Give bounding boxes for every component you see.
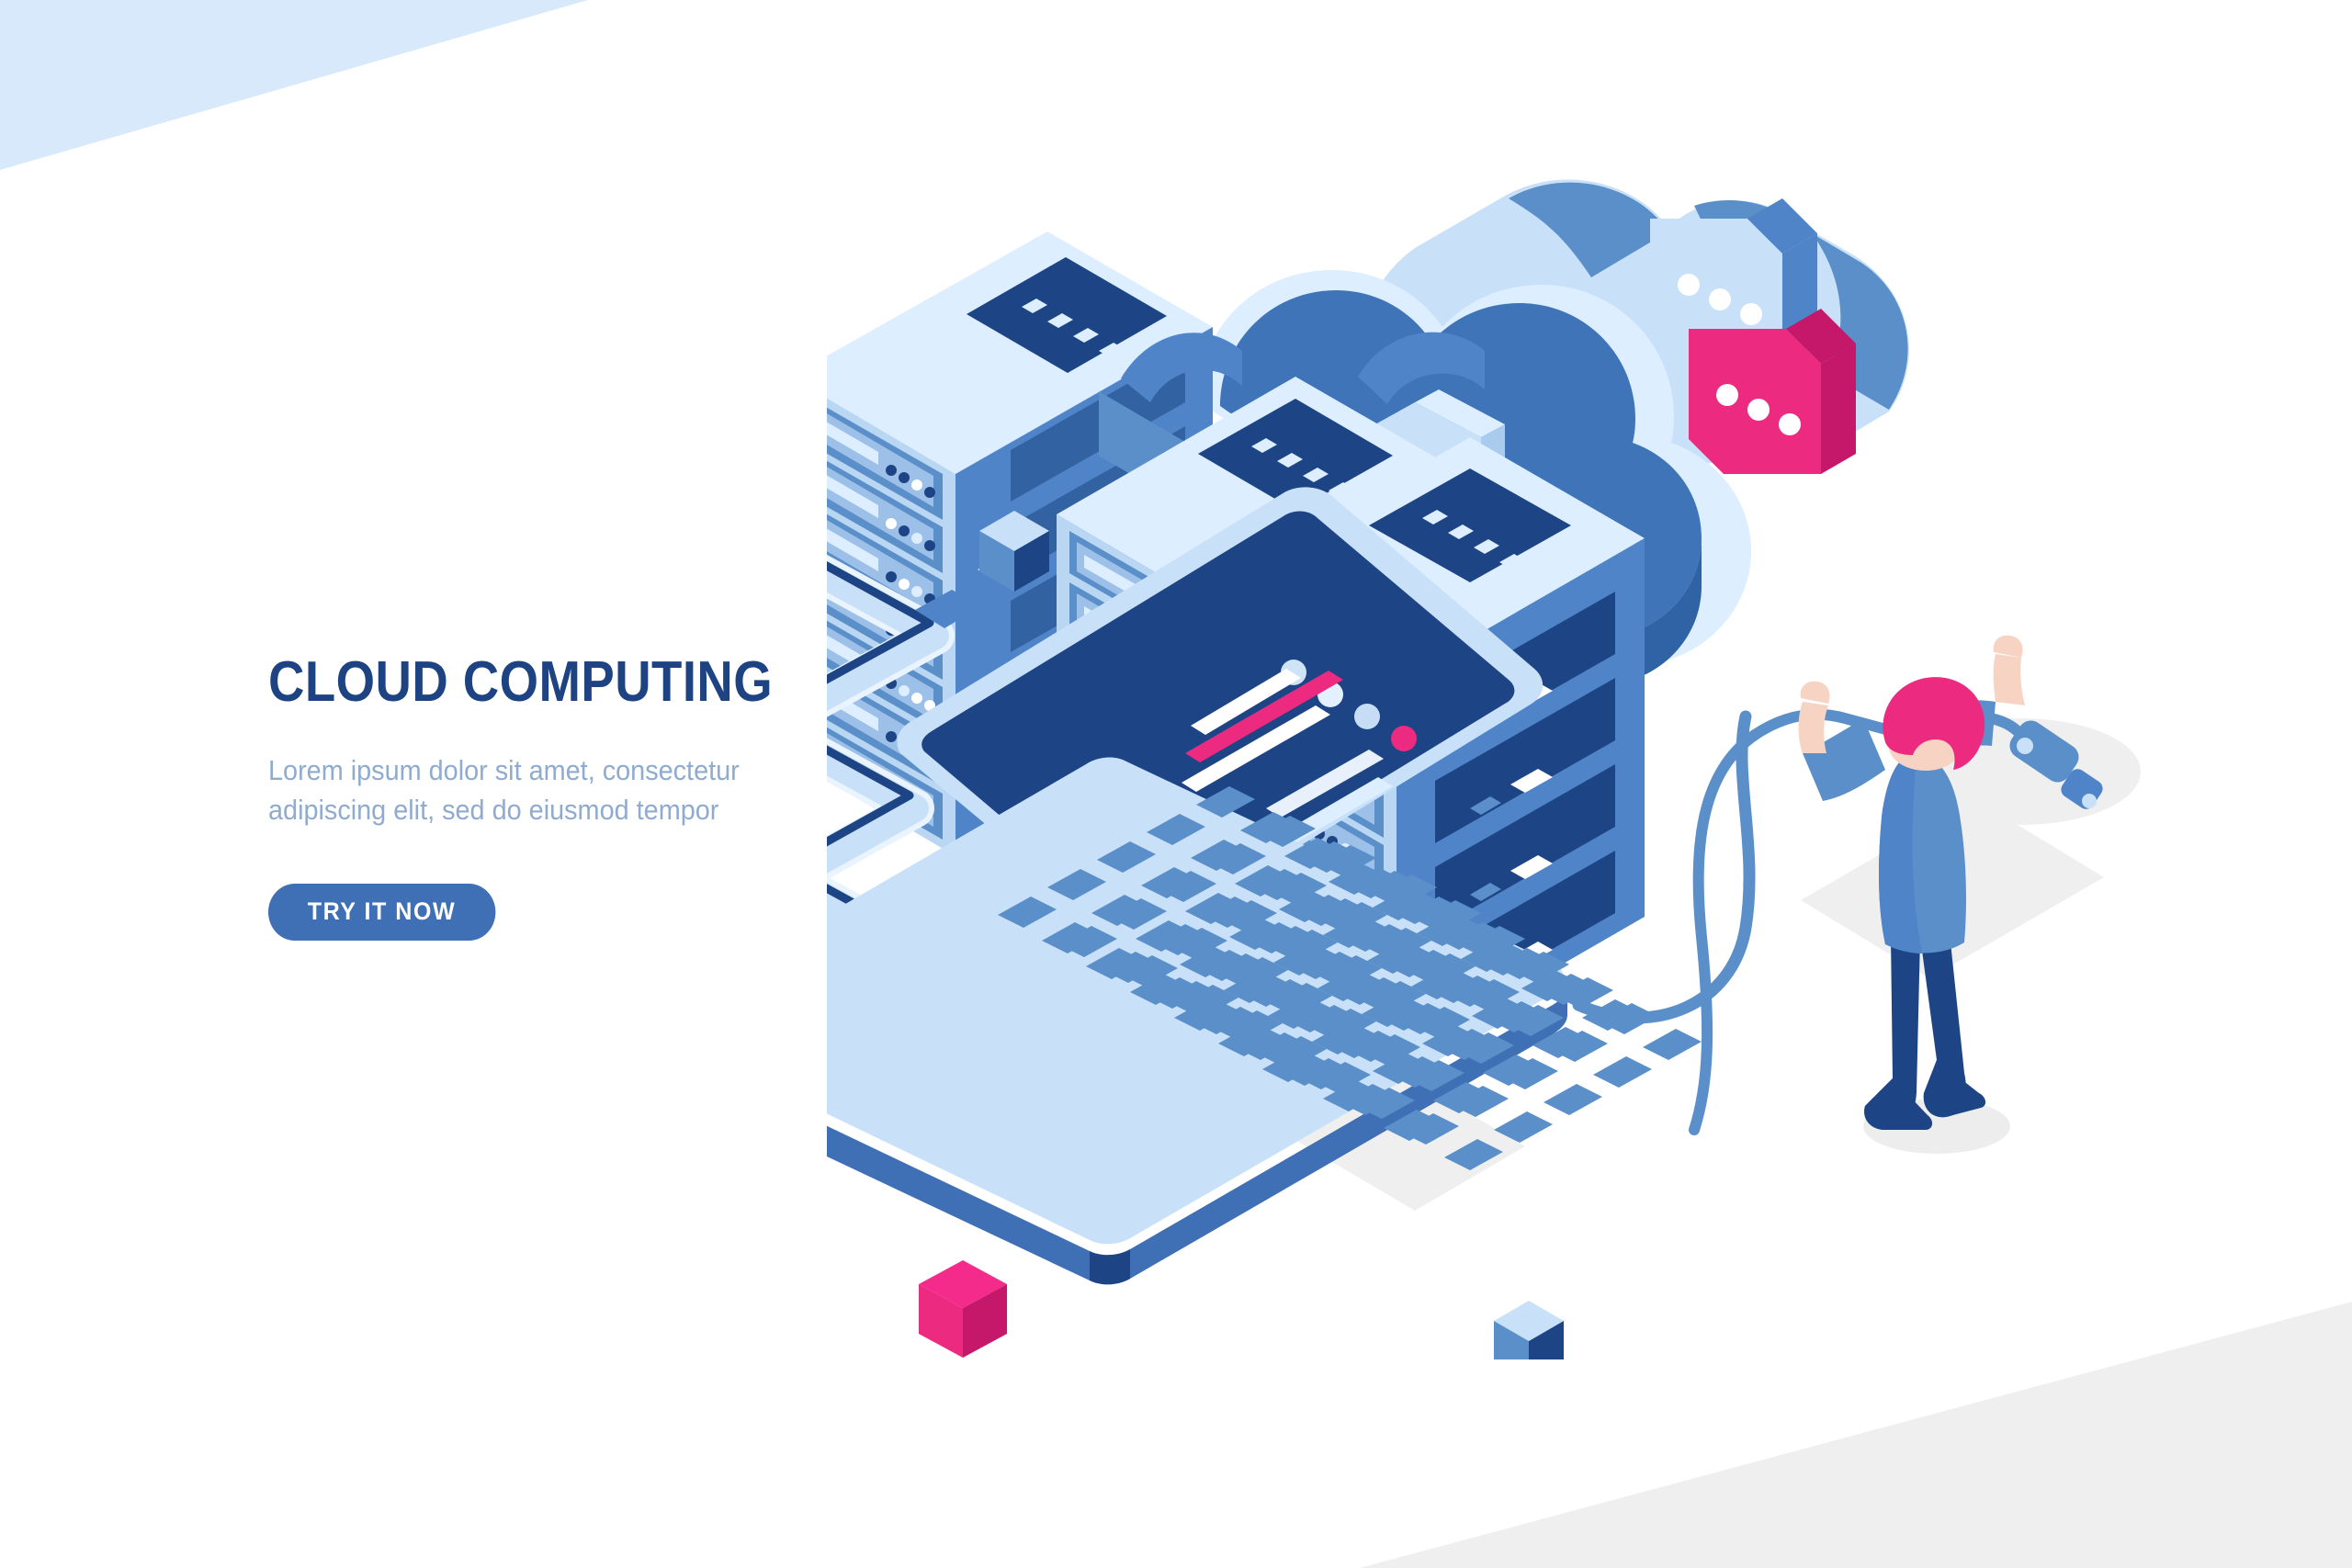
try-it-now-button[interactable]: TRY IT NOW <box>268 884 495 941</box>
hero-text-column: CLOUD COMPUTING Lorem ipsum dolor sit am… <box>268 654 856 941</box>
page-title: CLOUD COMPUTING <box>268 654 786 711</box>
cube-pink <box>919 1260 1007 1358</box>
corner-wedge-top-left <box>0 0 588 170</box>
page-subtitle: Lorem ipsum dolor sit amet, consectetur … <box>268 751 789 830</box>
chat-bubble-pink <box>1689 309 1856 474</box>
cloud-computing-illustration <box>827 110 2260 1359</box>
cube-blue-bottom <box>1494 1301 1564 1359</box>
page-root: CLOUD COMPUTING Lorem ipsum dolor sit am… <box>0 0 2352 1568</box>
